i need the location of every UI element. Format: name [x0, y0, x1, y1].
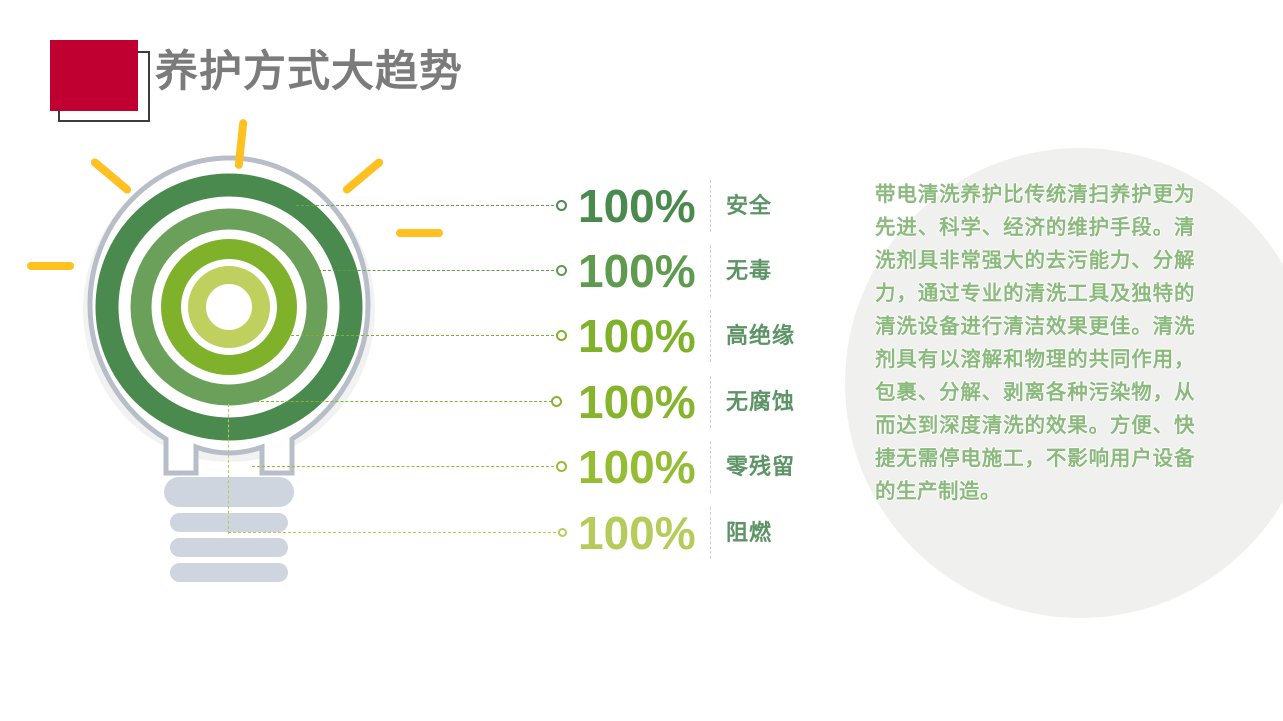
- connector-line: [256, 401, 552, 402]
- connector-line: [252, 466, 554, 467]
- connector-line: [286, 335, 554, 336]
- metric-label: 零残留: [726, 437, 795, 497]
- metric-value: 100%: [578, 503, 696, 563]
- connector-node: [551, 396, 562, 407]
- metric-label: 无腐蚀: [726, 372, 795, 432]
- slide-canvas: 养护方式大趋势: [0, 0, 1283, 721]
- connector-node: [558, 528, 567, 537]
- metric-label: 无毒: [726, 241, 772, 301]
- metric-value: 100%: [578, 241, 696, 301]
- connector-node: [556, 200, 567, 211]
- metric-row-6: 100% 阻燃: [0, 503, 820, 563]
- row-separator: [710, 376, 711, 428]
- metric-label: 阻燃: [726, 503, 772, 563]
- row-separator: [710, 180, 711, 232]
- connector-line: [296, 205, 554, 206]
- connector-node: [556, 461, 567, 472]
- connector-node: [556, 330, 567, 341]
- metric-label: 高绝缘: [726, 306, 795, 366]
- metric-row-5: 100% 零残留: [0, 437, 820, 497]
- row-separator: [710, 310, 711, 362]
- metric-row-1: 100% 安全: [0, 176, 820, 236]
- connector-line: [318, 270, 554, 271]
- metric-row-2: 100% 无毒: [0, 241, 820, 301]
- row-separator: [710, 507, 711, 559]
- metric-value: 100%: [578, 437, 696, 497]
- metric-row-3: 100% 高绝缘: [0, 306, 820, 366]
- connector-line: [228, 532, 556, 533]
- row-separator: [710, 245, 711, 297]
- metric-value: 100%: [578, 176, 696, 236]
- row-separator: [710, 441, 711, 493]
- info-paragraph: 带电清洗养护比传统清扫养护更为先进、科学、经济的维护手段。清洗剂具非常强大的去污…: [875, 178, 1195, 508]
- metric-row-4: 100% 无腐蚀: [0, 372, 820, 432]
- metric-value: 100%: [578, 306, 696, 366]
- connector-node: [556, 265, 567, 276]
- metric-label: 安全: [726, 176, 772, 236]
- metric-value: 100%: [578, 372, 696, 432]
